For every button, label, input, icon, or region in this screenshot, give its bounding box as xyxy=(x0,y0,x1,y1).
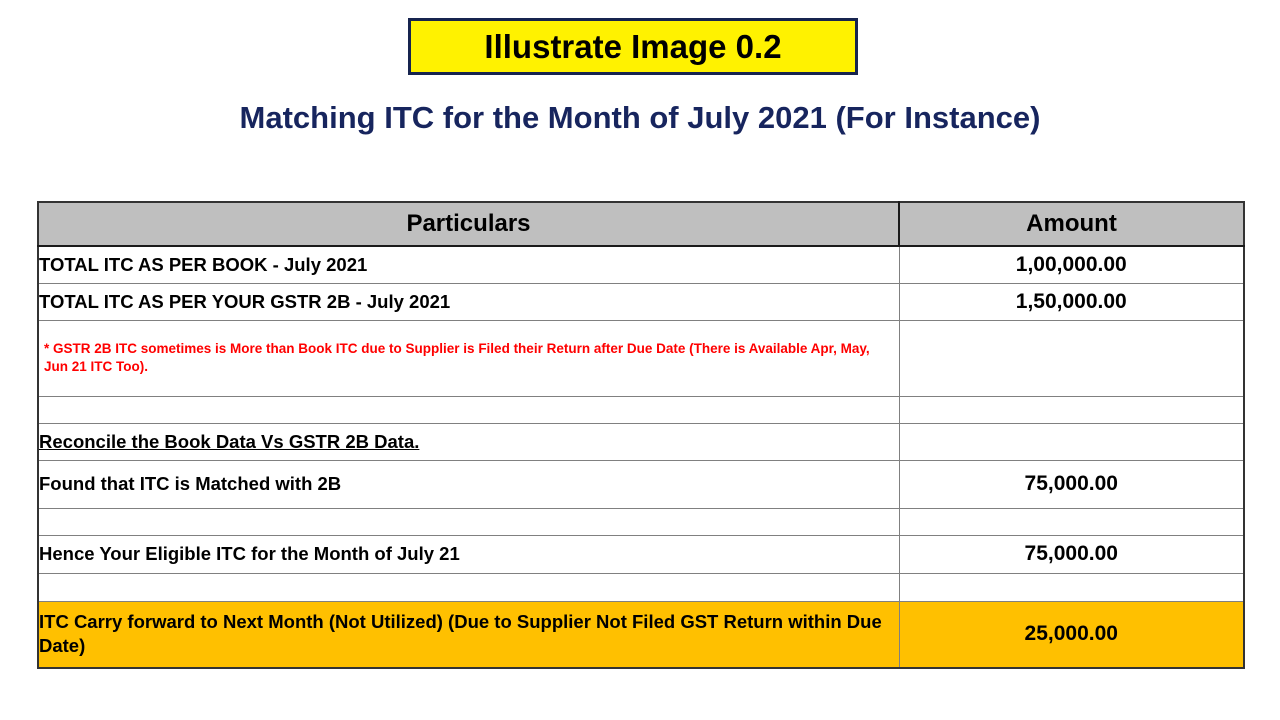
page-title: Matching ITC for the Month of July 2021 … xyxy=(0,100,1280,136)
table-row-highlighted: ITC Carry forward to Next Month (Not Uti… xyxy=(38,601,1244,668)
row-amount-eligible-itc: 75,000.00 xyxy=(899,535,1244,573)
table-row-blank xyxy=(38,396,1244,423)
row-amount-total-itc-book: 1,00,000.00 xyxy=(899,246,1244,283)
table-row: Reconcile the Book Data Vs GSTR 2B Data. xyxy=(38,423,1244,460)
row-label-reconcile: Reconcile the Book Data Vs GSTR 2B Data. xyxy=(38,423,899,460)
column-header-amount: Amount xyxy=(899,202,1244,246)
row-label-gstr2b-note: * GSTR 2B ITC sometimes is More than Boo… xyxy=(38,320,899,396)
row-label-blank-1 xyxy=(38,396,899,423)
table-header-row: Particulars Amount xyxy=(38,202,1244,246)
table-row-blank xyxy=(38,573,1244,601)
row-label-itc-carry-forward: ITC Carry forward to Next Month (Not Uti… xyxy=(38,601,899,668)
reconcile-text: Reconcile the Book Data Vs GSTR 2B Data. xyxy=(39,431,419,452)
itc-matching-table: Particulars Amount TOTAL ITC AS PER BOOK… xyxy=(37,201,1245,669)
row-amount-itc-matched: 75,000.00 xyxy=(899,460,1244,508)
row-amount-total-itc-gstr2b: 1,50,000.00 xyxy=(899,283,1244,320)
table-row: Hence Your Eligible ITC for the Month of… xyxy=(38,535,1244,573)
row-amount-reconcile xyxy=(899,423,1244,460)
column-header-particulars: Particulars xyxy=(38,202,899,246)
table-row: TOTAL ITC AS PER YOUR GSTR 2B - July 202… xyxy=(38,283,1244,320)
row-label-blank-2 xyxy=(38,508,899,535)
row-label-blank-3 xyxy=(38,573,899,601)
row-amount-blank-3 xyxy=(899,573,1244,601)
row-label-total-itc-gstr2b: TOTAL ITC AS PER YOUR GSTR 2B - July 202… xyxy=(38,283,899,320)
note-text: * GSTR 2B ITC sometimes is More than Boo… xyxy=(39,340,899,376)
row-label-total-itc-book: TOTAL ITC AS PER BOOK - July 2021 xyxy=(38,246,899,283)
table-row: Found that ITC is Matched with 2B 75,000… xyxy=(38,460,1244,508)
row-label-eligible-itc: Hence Your Eligible ITC for the Month of… xyxy=(38,535,899,573)
banner-title: Illustrate Image 0.2 xyxy=(484,30,781,63)
row-amount-blank-1 xyxy=(899,396,1244,423)
row-label-itc-matched: Found that ITC is Matched with 2B xyxy=(38,460,899,508)
row-amount-blank-2 xyxy=(899,508,1244,535)
row-amount-itc-carry-forward: 25,000.00 xyxy=(899,601,1244,668)
row-amount-gstr2b-note xyxy=(899,320,1244,396)
table-row-note: * GSTR 2B ITC sometimes is More than Boo… xyxy=(38,320,1244,396)
table-row: TOTAL ITC AS PER BOOK - July 2021 1,00,0… xyxy=(38,246,1244,283)
table-row-blank xyxy=(38,508,1244,535)
carry-forward-text: ITC Carry forward to Next Month (Not Uti… xyxy=(39,610,899,659)
illustrate-image-banner: Illustrate Image 0.2 xyxy=(408,18,858,75)
